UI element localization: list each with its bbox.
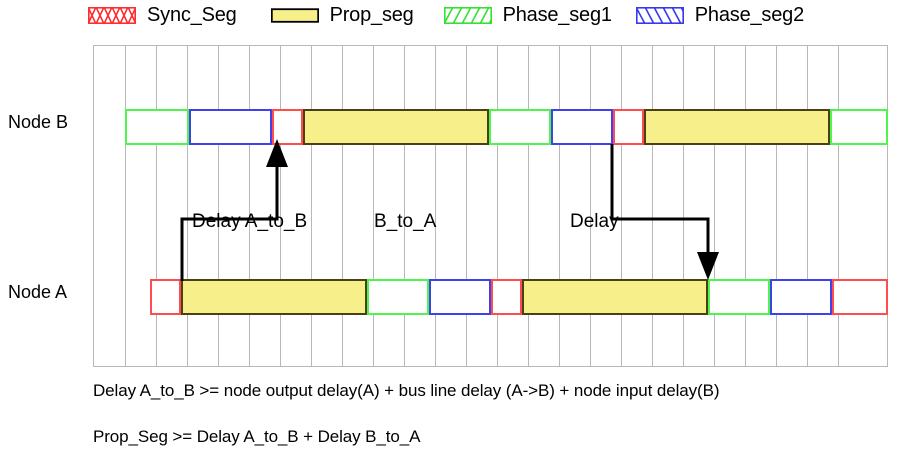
segment-sync-seg	[613, 109, 644, 145]
segment-phase-seg2	[770, 279, 832, 315]
legend-label-sync-seg: Sync_Seg	[147, 5, 237, 25]
annotation-delay: Delay	[570, 212, 619, 231]
legend-label-phase-seg1: Phase_seg1	[503, 5, 612, 25]
legend-item-phase-seg1: Phase_seg1	[444, 5, 612, 25]
sync-seg-swatch-icon	[88, 7, 136, 24]
legend: Sync_Seg Prop_seg	[88, 0, 914, 30]
bit-timing-track-node-a	[150, 279, 888, 315]
legend-item-prop-seg: Prop_seg	[271, 5, 414, 25]
annotation-b-to-a: B_to_A	[374, 212, 436, 231]
gridline	[652, 46, 653, 366]
segment-sync-seg	[491, 279, 522, 315]
segment-prop-seg	[522, 279, 708, 315]
gridline	[311, 46, 312, 366]
segment-phase-seg1	[367, 279, 429, 315]
row-label-node-b: Node B	[8, 113, 68, 131]
gridline	[156, 46, 157, 366]
bit-timing-track-node-b	[125, 109, 888, 145]
caption-prop-seg-formula: Prop_Seg >= Delay A_to_B + Delay B_to_A	[93, 427, 420, 446]
segment-phase-seg1	[830, 109, 888, 145]
diagram-canvas: Sync_Seg Prop_seg	[0, 0, 914, 465]
caption-delay-formula: Delay A_to_B >= node output delay(A) + b…	[93, 381, 719, 400]
segment-sync-seg	[150, 279, 181, 315]
segment-phase-seg2	[429, 279, 491, 315]
gridline	[342, 46, 343, 366]
gridline	[838, 46, 839, 366]
gridline	[621, 46, 622, 366]
segment-prop-seg	[644, 109, 830, 145]
segment-phase-seg1	[708, 279, 770, 315]
legend-label-prop-seg: Prop_seg	[330, 5, 414, 25]
gridline	[125, 46, 126, 366]
phase-seg1-swatch-icon	[444, 7, 492, 24]
gridline	[373, 46, 374, 366]
phase-seg2-swatch-icon	[636, 7, 684, 24]
gridline	[497, 46, 498, 366]
gridline	[218, 46, 219, 366]
gridline	[559, 46, 560, 366]
segment-phase-seg2	[551, 109, 613, 145]
gridline	[187, 46, 188, 366]
gridline	[435, 46, 436, 366]
legend-label-phase-seg2: Phase_seg2	[695, 5, 804, 25]
legend-item-sync-seg: Sync_Seg	[88, 5, 237, 25]
gridline	[528, 46, 529, 366]
gridline	[280, 46, 281, 366]
segment-sync-seg	[272, 109, 303, 145]
row-label-node-a: Node A	[8, 283, 67, 301]
segment-phase-seg2	[189, 109, 272, 145]
gridline	[807, 46, 808, 366]
gridline	[683, 46, 684, 366]
gridline	[776, 46, 777, 366]
gridline	[714, 46, 715, 366]
gridline	[249, 46, 250, 366]
segment-sync-seg	[832, 279, 888, 315]
prop-seg-swatch-icon	[271, 7, 319, 24]
gridline	[590, 46, 591, 366]
segment-prop-seg	[303, 109, 489, 145]
gridline	[404, 46, 405, 366]
segment-prop-seg	[181, 279, 367, 315]
gridline	[745, 46, 746, 366]
legend-item-phase-seg2: Phase_seg2	[636, 5, 804, 25]
gridline	[466, 46, 467, 366]
segment-phase-seg1	[489, 109, 551, 145]
timing-diagram-plot	[93, 45, 888, 367]
segment-phase-seg1	[125, 109, 189, 145]
annotation-delay-a-to-b: Delay A_to_B	[192, 212, 307, 231]
